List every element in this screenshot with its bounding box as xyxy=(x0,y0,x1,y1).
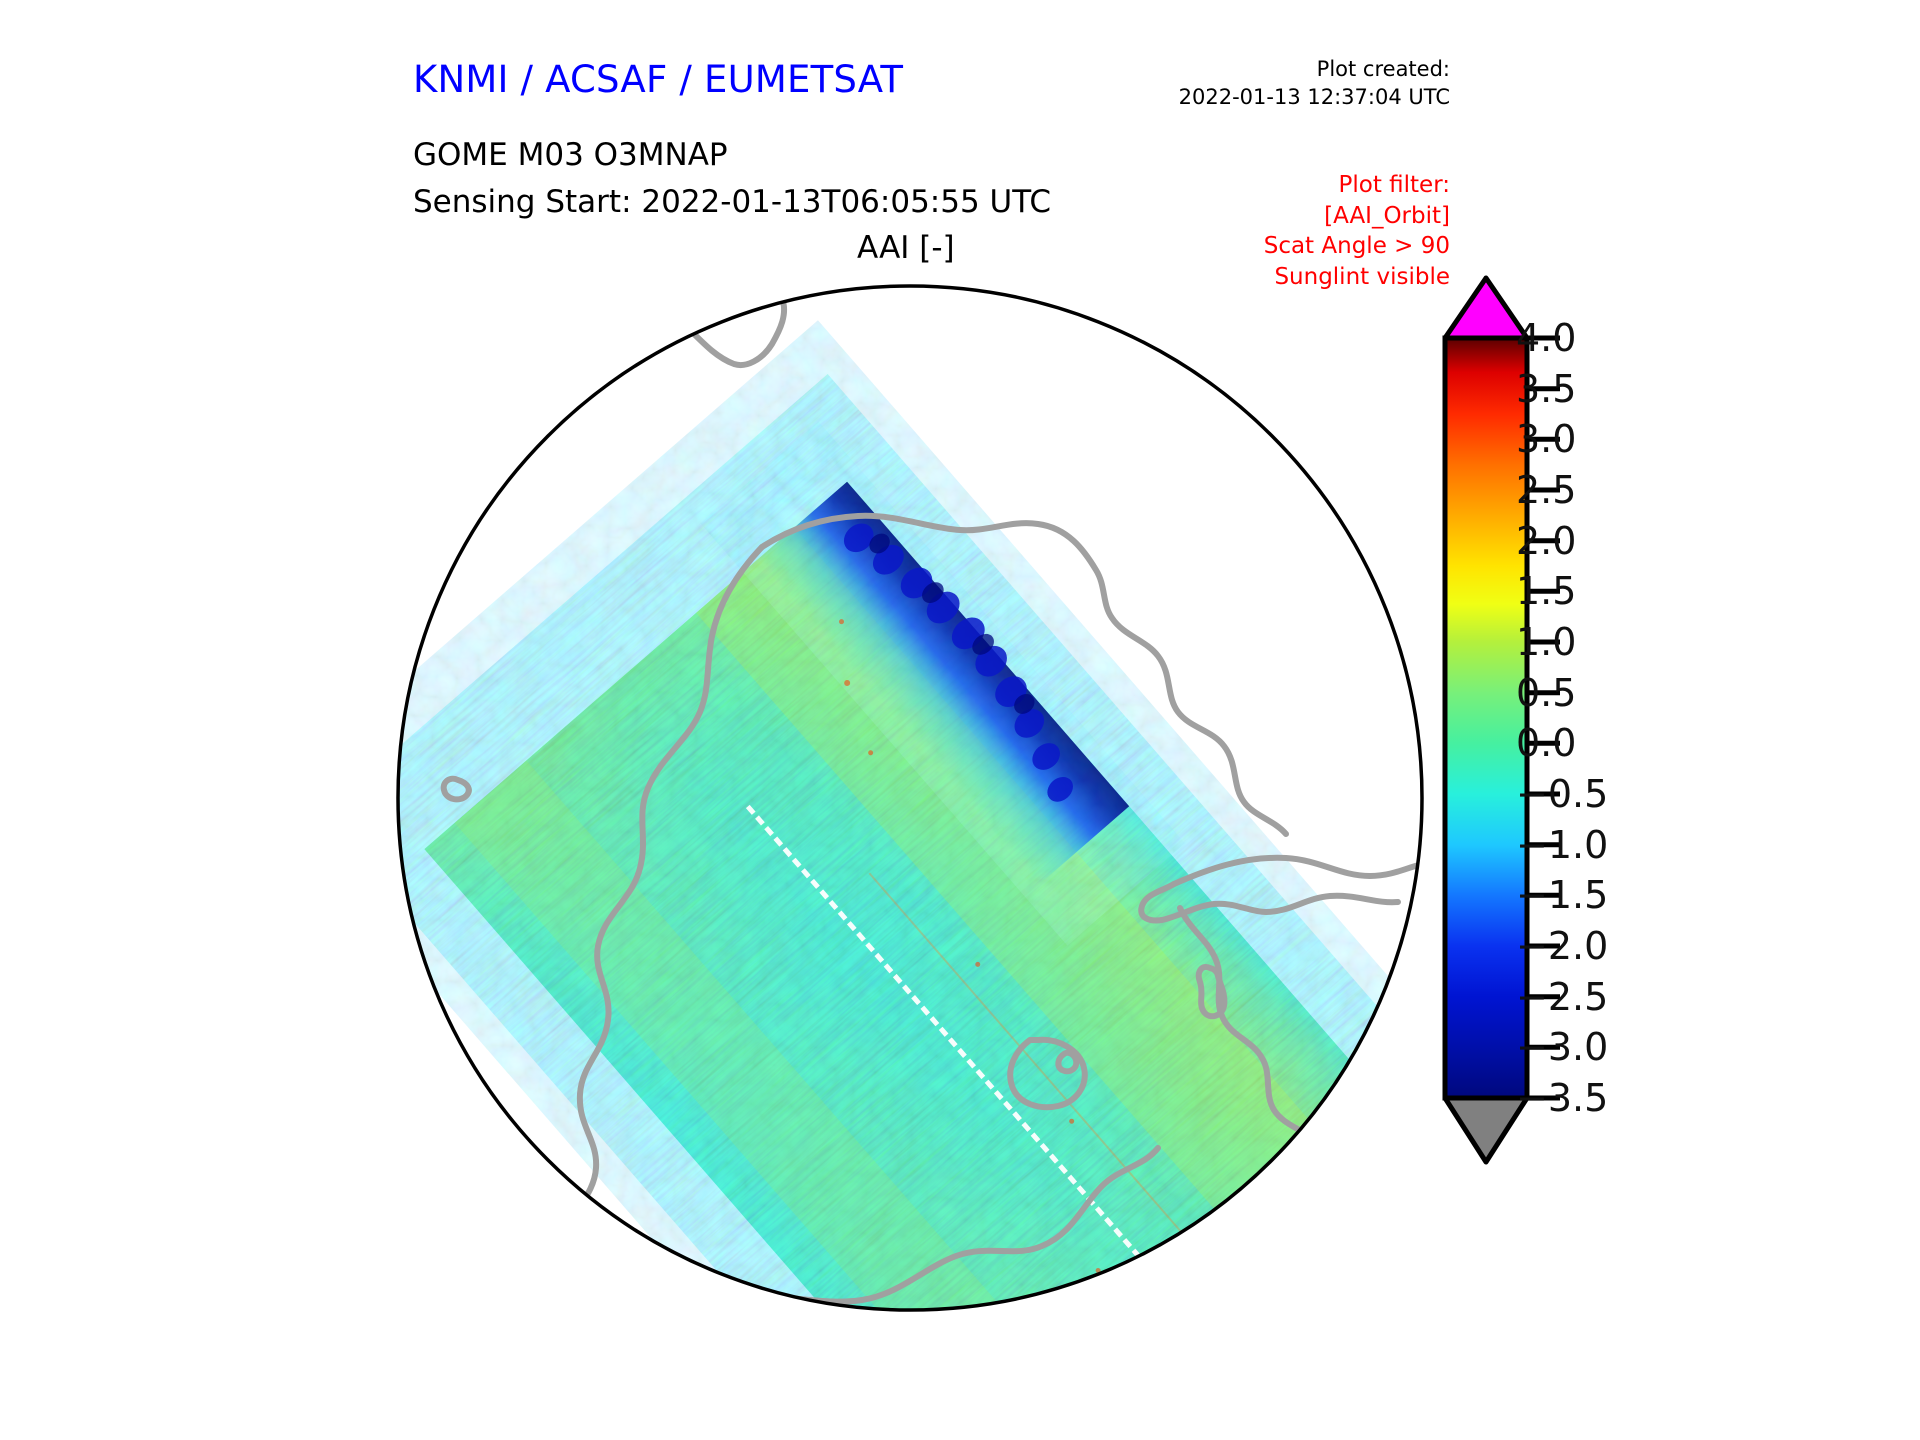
colorbar-gradient xyxy=(1445,338,1527,1098)
polar-map xyxy=(390,268,1430,1328)
sensing-start-text: Sensing Start: 2022-01-13T06:05:55 UTC xyxy=(413,184,1051,220)
colorbar-tick-label: 3.5 xyxy=(1516,367,1576,411)
colorbar-under-arrow xyxy=(1445,1098,1527,1162)
colorbar-tick-label: 0.0 xyxy=(1516,721,1576,765)
colorbar-tick-label: 1.5 xyxy=(1516,569,1576,613)
colorbar-tick-label: −1.5 xyxy=(1516,873,1608,917)
colorbar-tick-label: −2.5 xyxy=(1516,975,1608,1019)
colorbar-tick-label: −3.5 xyxy=(1516,1076,1608,1120)
colorbar-tick-label: 3.0 xyxy=(1516,417,1576,461)
island-small-a xyxy=(535,355,568,385)
colorbar-tick-label: 2.5 xyxy=(1516,468,1576,512)
colorbar-tick-label: 2.0 xyxy=(1516,519,1576,563)
colorbar-tick-label: −0.5 xyxy=(1516,772,1608,816)
island-north-b xyxy=(704,268,748,278)
colorbar-tick-label: 1.0 xyxy=(1516,620,1576,664)
aai-plot-figure: KNMI / ACSAF / EUMETSAT Plot created: 20… xyxy=(0,0,1920,1440)
plot-created-label: Plot created: xyxy=(1160,55,1450,83)
quantity-title: AAI [-] xyxy=(857,230,955,266)
colorbar-tick-label: −2.0 xyxy=(1516,924,1608,968)
colorbar-over-arrow-shape xyxy=(1445,278,1527,338)
dataset-title: GOME M03 O3MNAP xyxy=(413,137,728,173)
plot-filter-scat-angle: Scat Angle > 90 xyxy=(1160,231,1450,262)
plot-filter-variable: [AAI_Orbit] xyxy=(1160,201,1450,232)
colorbar-tick-label: −1.0 xyxy=(1516,823,1608,867)
plot-created-block: Plot created: 2022-01-13 12:37:04 UTC xyxy=(1160,55,1450,112)
institutes-title: KNMI / ACSAF / EUMETSAT xyxy=(413,58,903,101)
colorbar-tick-label: 0.5 xyxy=(1516,671,1576,715)
plot-filter-label: Plot filter: xyxy=(1160,170,1450,201)
map-canvas xyxy=(390,268,1430,1328)
colorbar-tick-label: −3.0 xyxy=(1516,1025,1608,1069)
plot-created-timestamp: 2022-01-13 12:37:04 UTC xyxy=(1160,83,1450,111)
colorbar-tick-labels: 4.0 3.5 3.0 2.5 2.0 1.5 1.0 0.5 0.0 −0.5… xyxy=(1516,270,1676,1340)
colorbar-tick-label: 4.0 xyxy=(1516,316,1576,360)
